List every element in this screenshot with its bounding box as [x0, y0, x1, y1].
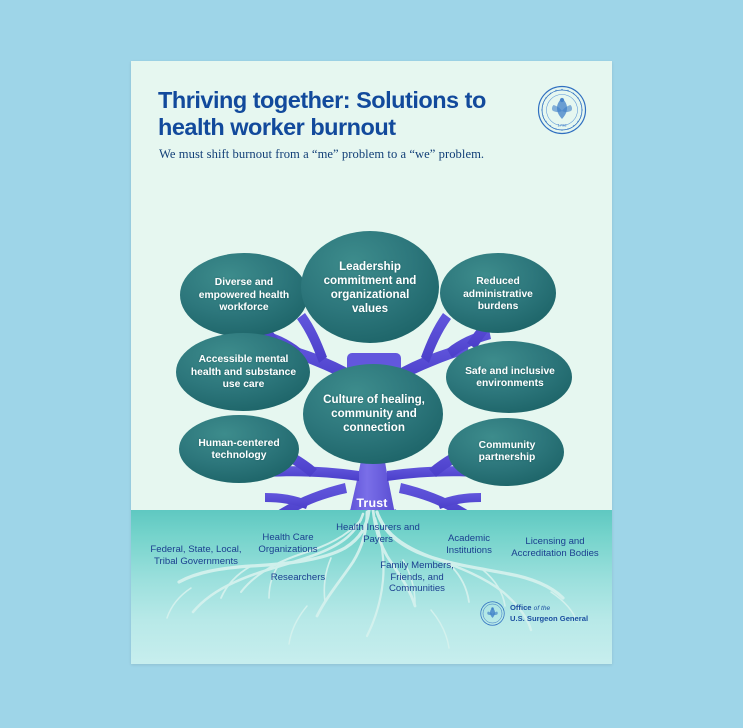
- poster-header: Thriving together: Solutions to health w…: [131, 61, 612, 171]
- surgeon-general-logo: Office of the U.S. Surgeon General: [480, 601, 588, 626]
- logo-line-2: U.S. Surgeon General: [510, 614, 588, 624]
- logo-text: Office of the U.S. Surgeon General: [510, 603, 588, 623]
- root-label-licensing-and-accreditation-bodies: Licensing and Accreditation Bodies: [509, 536, 601, 559]
- root-label-academic-institutions: Academic Institutions: [425, 533, 513, 556]
- logo-office-word: Office: [510, 603, 532, 612]
- root-label-health-insurers-and-payers: Health Insurers and Payers: [327, 522, 429, 545]
- page-subtitle: We must shift burnout from a “me” proble…: [159, 147, 579, 162]
- us-public-health-service-seal-icon: [480, 601, 505, 626]
- ground-roots-area: Federal, State, Local, Tribal Government…: [131, 510, 612, 664]
- root-label-federal-state-local-tribal-governments: Federal, State, Local, Tribal Government…: [143, 544, 249, 567]
- logo-line-1: Office of the: [510, 603, 588, 613]
- page-title: Thriving together: Solutions to health w…: [158, 87, 518, 142]
- logo-ofthe-word: of the: [534, 605, 551, 612]
- root-label-researchers: Researchers: [253, 572, 343, 584]
- us-public-health-service-seal-icon: 1798: [537, 85, 587, 135]
- root-label-health-care-organizations: Health Care Organizations: [239, 532, 337, 555]
- root-label-family-members-friends-communities: Family Members, Friends, and Communities: [369, 560, 465, 595]
- svg-text:1798: 1798: [558, 123, 568, 128]
- poster-card: Thriving together: Solutions to health w…: [131, 61, 612, 664]
